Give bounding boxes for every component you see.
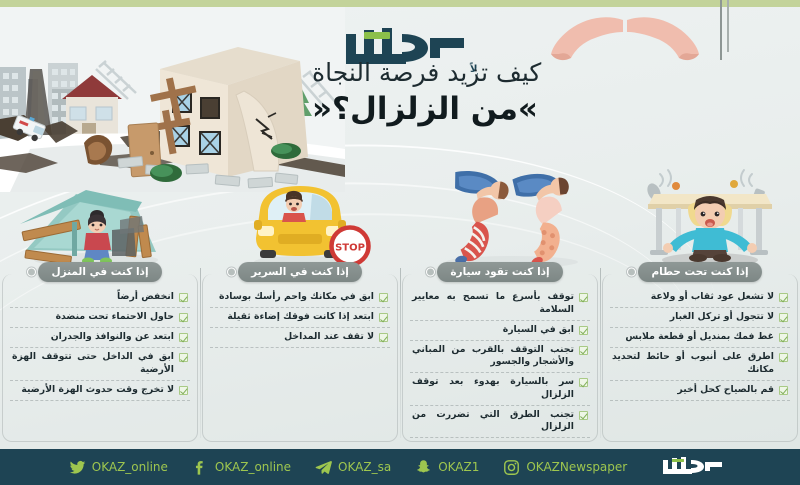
person-under-rubble-illustration: [16, 172, 176, 268]
advice-column-in-bed: إذا كنت في السريرابق في مكانك واحم رأسك …: [200, 262, 400, 448]
stop-sign-label: STOP: [335, 243, 365, 254]
advice-item-text: لا تتجول أو تركل الغبار: [612, 311, 774, 324]
checkbox-icon: [779, 333, 788, 342]
facebook-icon: [192, 459, 209, 476]
two-people-in-bed-illustration: [432, 168, 592, 268]
advice-item-text: لا تخرج وقت حدوث الهزة الأرضية: [12, 384, 174, 397]
advice-item: غط فمك بمنديل أو قطعة ملابس: [610, 328, 790, 348]
advice-item-text: قم بالصياح كحل أخير: [612, 384, 774, 397]
column-divider: [600, 268, 601, 438]
advice-item-text: ابق في السيارة: [412, 324, 574, 337]
telegram-icon: [315, 459, 332, 476]
advice-item: ابتعد عن والنوافذ والجدران: [10, 328, 190, 348]
advice-item-text: توقف بأسرع ما تسمح به معايير السلامة: [412, 291, 574, 316]
title-line-1: كيف تزيد فرصة النجاة: [312, 58, 782, 88]
checkbox-icon: [179, 353, 188, 362]
advice-list: لا تشعل عود ثقاب أو ولاعةلا تتجول أو ترك…: [610, 286, 790, 401]
advice-item: ابق في الداخل حتى تتوقف الهزة الأرضية: [10, 348, 190, 381]
person-under-table-illustration: [630, 164, 790, 268]
checkbox-icon: [779, 313, 788, 322]
advice-item: انخفض أرضاً: [10, 288, 190, 308]
heading-connector-dot: [426, 268, 435, 277]
advice-item: لا تشعل عود ثقاب أو ولاعة: [610, 288, 790, 308]
advice-item-text: تجنب التوقف بالقرب من المباني والأشجار و…: [412, 344, 574, 369]
advice-item-text: انخفض أرضاً: [12, 291, 174, 304]
advice-item-text: لا تقف عند المداخل: [212, 331, 374, 344]
checkbox-icon: [179, 333, 188, 342]
advice-columns: إذا كنت في المنزلانخفض أرضاًحاول الاحتما…: [0, 262, 800, 448]
social-handle: OKAZNewspaper: [526, 460, 627, 474]
checkbox-icon: [579, 346, 588, 355]
instagram-icon: [503, 459, 520, 476]
top-green-strip: [0, 0, 800, 7]
advice-item-text: حاول الاحتماء تحت منضدة: [12, 311, 174, 324]
column-heading-in-bed: إذا كنت في السرير: [238, 262, 362, 282]
twitter-icon: [69, 459, 86, 476]
advice-item-text: ابتعد إذا كانت فوقك إضاءة ثقيلة: [212, 311, 374, 324]
okaz-logo-white: [659, 456, 731, 478]
advice-item: تجنب الطرق التي تضررت من الزلزال: [410, 406, 590, 439]
social-footer: OKAZ_online OKAZ_online OKAZ_sa OKAZ1: [0, 449, 800, 485]
advice-item-text: تجنب الطرق التي تضررت من الزلزال: [412, 409, 574, 434]
page-title: كيف تزيد فرصة النجاة »من الزلزال؟«: [312, 58, 782, 128]
advice-item-text: سر بالسيارة بهدوء بعد توقف الزلزال: [412, 376, 574, 401]
checkbox-icon: [179, 293, 188, 302]
advice-item-text: ابق في الداخل حتى تتوقف الهزة الأرضية: [12, 351, 174, 376]
checkbox-icon: [579, 326, 588, 335]
social-handle: OKAZ1: [438, 460, 479, 474]
advice-item: ابتعد إذا كانت فوقك إضاءة ثقيلة: [210, 308, 390, 328]
column-heading-driving-car: إذا كنت تقود سيارة: [437, 262, 562, 282]
broken-pole-decoration: [720, 0, 722, 60]
checkbox-icon: [179, 313, 188, 322]
social-instagram[interactable]: OKAZNewspaper: [503, 459, 627, 476]
broken-pole-decoration: [727, 0, 729, 52]
checkbox-icon: [379, 293, 388, 302]
advice-item: حاول الاحتماء تحت منضدة: [10, 308, 190, 328]
advice-item-text: لا تشعل عود ثقاب أو ولاعة: [612, 291, 774, 304]
social-facebook[interactable]: OKAZ_online: [192, 459, 291, 476]
advice-list: انخفض أرضاًحاول الاحتماء تحت منضدةابتعد …: [10, 286, 190, 401]
heading-connector-dot: [27, 268, 36, 277]
social-snapchat[interactable]: OKAZ1: [415, 459, 479, 476]
social-twitter[interactable]: OKAZ_online: [69, 459, 168, 476]
heading-connector-dot: [227, 268, 236, 277]
checkbox-icon: [779, 353, 788, 362]
column-heading-at-home: إذا كنت في المنزل: [38, 262, 161, 282]
advice-item: سر بالسيارة بهدوء بعد توقف الزلزال: [410, 373, 590, 406]
advice-item-text: ابق في مكانك واحم رأسك بوسادة: [212, 291, 374, 304]
title-line-2: »من الزلزال؟«: [312, 90, 782, 128]
advice-item: اطرق على أنبوب أو حائط لتحديد مكانك: [610, 348, 790, 381]
checkbox-icon: [379, 333, 388, 342]
protecting-hands-icon: [545, 12, 705, 64]
car-driver-stop-sign-illustration: STOP: [244, 176, 374, 268]
checkbox-icon: [379, 313, 388, 322]
advice-item: تجنب التوقف بالقرب من المباني والأشجار و…: [410, 341, 590, 374]
column-heading-under-rubble: إذا كنت تحت حطام: [638, 262, 761, 282]
advice-item-text: ابتعد عن والنوافذ والجدران: [12, 331, 174, 344]
advice-item: لا تتجول أو تركل الغبار: [610, 308, 790, 328]
advice-item: لا تخرج وقت حدوث الهزة الأرضية: [10, 381, 190, 401]
advice-item-text: غط فمك بمنديل أو قطعة ملابس: [612, 331, 774, 344]
checkbox-icon: [779, 293, 788, 302]
advice-item: لا تقف عند المداخل: [210, 328, 390, 348]
infographic-page: أن تكون أولاً كيف تزيد فرصة النجاة »من ا…: [0, 0, 800, 485]
social-handle: OKAZ_online: [215, 460, 291, 474]
heading-connector-dot: [627, 268, 636, 277]
advice-column-under-rubble: إذا كنت تحت حطاملا تشعل عود ثقاب أو ولاع…: [600, 262, 800, 448]
advice-item: ابق في مكانك واحم رأسك بوسادة: [210, 288, 390, 308]
checkbox-icon: [179, 386, 188, 395]
social-handle: OKAZ_online: [92, 460, 168, 474]
advice-item: توقف بأسرع ما تسمح به معايير السلامة: [410, 288, 590, 321]
advice-list: توقف بأسرع ما تسمح به معايير السلامةابق …: [410, 286, 590, 438]
illustration-row: STOP: [0, 160, 800, 268]
advice-column-driving-car: إذا كنت تقود سيارةتوقف بأسرع ما تسمح به …: [400, 262, 600, 448]
advice-item: قم بالصياح كحل أخير: [610, 381, 790, 401]
advice-item: ابق في السيارة: [410, 321, 590, 341]
checkbox-icon: [579, 293, 588, 302]
social-telegram[interactable]: OKAZ_sa: [315, 459, 391, 476]
snapchat-icon: [415, 459, 432, 476]
checkbox-icon: [779, 386, 788, 395]
social-handle: OKAZ_sa: [338, 460, 391, 474]
checkbox-icon: [579, 378, 588, 387]
advice-item-text: اطرق على أنبوب أو حائط لتحديد مكانك: [612, 351, 774, 376]
advice-list: ابق في مكانك واحم رأسك بوسادةابتعد إذا ك…: [210, 286, 390, 348]
column-divider: [400, 268, 401, 438]
column-divider: [200, 268, 201, 438]
checkbox-icon: [579, 411, 588, 420]
advice-column-at-home: إذا كنت في المنزلانخفض أرضاًحاول الاحتما…: [0, 262, 200, 448]
